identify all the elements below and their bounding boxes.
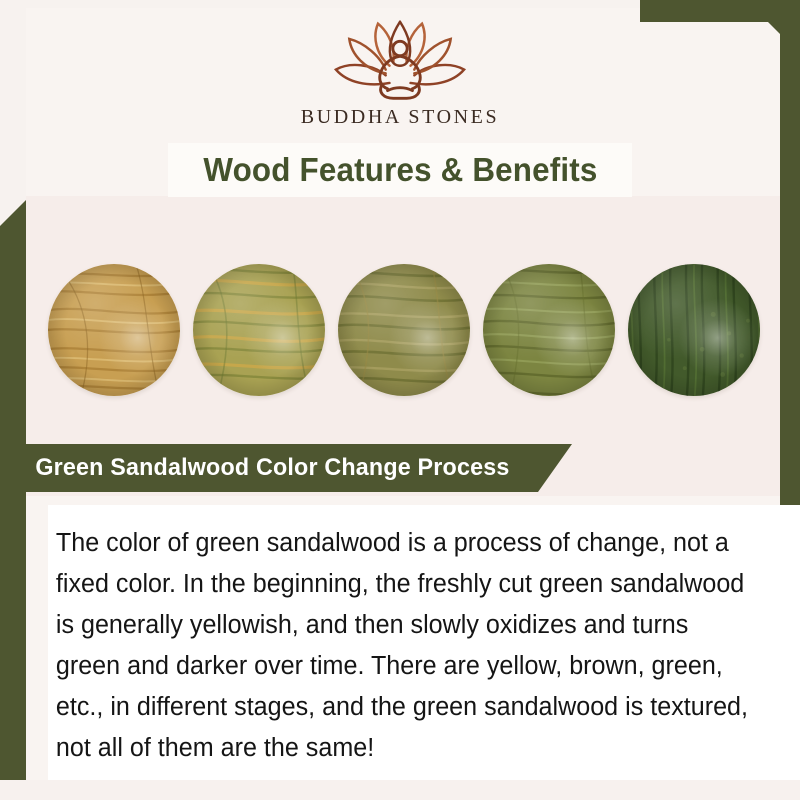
page-title: Wood Features & Benefits xyxy=(203,151,597,189)
bead-highlight-4 xyxy=(483,264,615,396)
brand-logo: BUDDHA STONES xyxy=(0,16,800,140)
bead-stage-1-yellowish xyxy=(48,264,180,396)
frame-left-bevel xyxy=(0,200,26,226)
section-banner-label: Green Sandalwood Color Change Process xyxy=(35,454,509,482)
bead-highlight-1 xyxy=(48,264,180,396)
bead-stage-2-yellow-green xyxy=(193,264,325,396)
section-banner: Green Sandalwood Color Change Process xyxy=(0,444,572,492)
bead-stage-4-moss-green xyxy=(483,264,615,396)
bead-stage-5-dark-green xyxy=(628,264,760,396)
body-panel: The color of green sandalwood is a proce… xyxy=(48,505,800,780)
bead-stage-3-olive-khaki xyxy=(338,264,470,396)
bead-color-stages xyxy=(48,255,760,405)
frame-bottom-band xyxy=(0,780,800,800)
bead-highlight-2 xyxy=(193,264,325,396)
poster-root: BUDDHA STONES Wood Features & Benefits xyxy=(0,0,800,800)
frame-left-band xyxy=(0,200,26,800)
bead-highlight-3 xyxy=(338,264,470,396)
bead-highlight-5 xyxy=(628,264,760,396)
brand-name: BUDDHA STONES xyxy=(301,106,499,129)
body-paragraph: The color of green sandalwood is a proce… xyxy=(48,523,765,769)
title-band: Wood Features & Benefits xyxy=(168,143,632,197)
lotus-meditation-figure-icon xyxy=(315,16,485,104)
